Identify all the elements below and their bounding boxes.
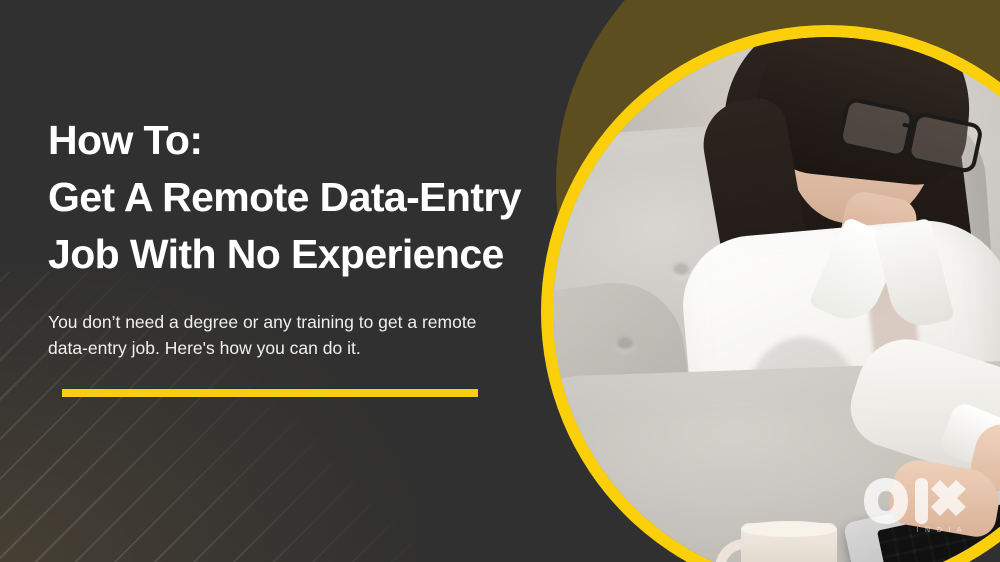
page-title: How To: Get A Remote Data-Entry Job With… <box>48 112 568 283</box>
mug-rim <box>741 521 837 537</box>
cushion-tuft <box>617 337 633 349</box>
headline-line-3: Job With No Experience <box>48 231 504 277</box>
subtitle-line-1: You don’t need a degree or any training … <box>48 312 476 332</box>
headline-line-2: Get A Remote Data-Entry <box>48 174 521 220</box>
headline-block: How To: Get A Remote Data-Entry Job With… <box>48 112 568 361</box>
subtitle-line-2: data-entry job. Here's how you can do it… <box>48 338 361 358</box>
poster-canvas: I N D I A How To: Get A Remote Data-Entr… <box>0 0 1000 562</box>
photo-room-background <box>553 37 1000 562</box>
cushion-tuft <box>673 263 689 275</box>
headline-line-1: How To: <box>48 117 202 163</box>
yellow-rule <box>62 389 478 397</box>
hero-photo <box>553 37 1000 562</box>
subtitle: You don’t need a degree or any training … <box>48 309 528 361</box>
